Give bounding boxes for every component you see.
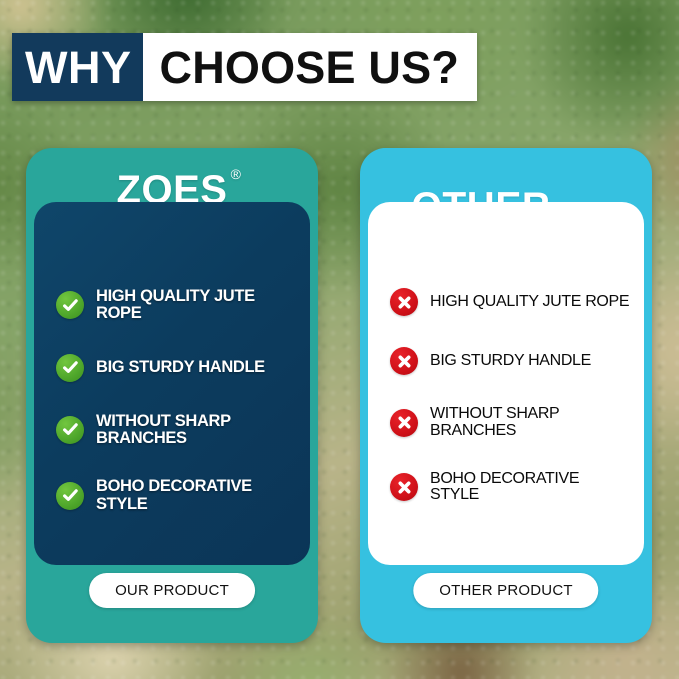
feature-label: HIGH QUALITY JUTE ROPE bbox=[430, 294, 629, 311]
list-item: WITHOUT SHARP BRANCHES bbox=[390, 406, 630, 440]
other-features-panel: HIGH QUALITY JUTE ROPE BIG STURDY HANDLE bbox=[368, 202, 644, 565]
comparison-infographic: WHY CHOOSE US? ZOES ® HOMEWARE HIGH QUAL… bbox=[0, 0, 679, 679]
registered-trademark-icon: ® bbox=[231, 167, 242, 181]
list-item: BIG STURDY HANDLE bbox=[56, 354, 296, 382]
list-item: BOHO DECORATIVE STYLE bbox=[390, 471, 630, 505]
list-item: BIG STURDY HANDLE bbox=[390, 347, 630, 375]
our-product-button[interactable]: OUR PRODUCT bbox=[89, 573, 255, 608]
cross-icon bbox=[390, 288, 418, 316]
cross-icon bbox=[390, 473, 418, 501]
other-product-card: OTHER HIGH QUALITY JUTE ROPE bbox=[360, 148, 652, 643]
cross-icon bbox=[390, 347, 418, 375]
list-item: BOHO DECORATIVE STYLE bbox=[56, 478, 296, 513]
check-icon bbox=[56, 482, 84, 510]
other-product-button[interactable]: OTHER PRODUCT bbox=[413, 573, 598, 608]
list-item: WITHOUT SHARP BRANCHES bbox=[56, 413, 296, 448]
feature-label: BOHO DECORATIVE STYLE bbox=[430, 471, 630, 505]
our-feature-list: HIGH QUALITY JUTE ROPE BIG STURDY HANDLE bbox=[56, 288, 296, 513]
check-icon bbox=[56, 291, 84, 319]
feature-label: WITHOUT SHARP BRANCHES bbox=[96, 413, 296, 448]
header-title: CHOOSE US? bbox=[143, 33, 478, 101]
other-feature-list: HIGH QUALITY JUTE ROPE BIG STURDY HANDLE bbox=[390, 288, 630, 504]
feature-label: HIGH QUALITY JUTE ROPE bbox=[96, 288, 296, 323]
header-highlight-word: WHY bbox=[12, 33, 143, 101]
our-product-card: ZOES ® HOMEWARE HIGH QUALITY JUTE ROPE bbox=[26, 148, 318, 643]
header-banner: WHY CHOOSE US? bbox=[12, 33, 477, 101]
list-item: HIGH QUALITY JUTE ROPE bbox=[56, 288, 296, 323]
feature-label: BOHO DECORATIVE STYLE bbox=[96, 478, 296, 513]
feature-label: BIG STURDY HANDLE bbox=[96, 359, 265, 376]
our-features-panel: HIGH QUALITY JUTE ROPE BIG STURDY HANDLE bbox=[34, 202, 310, 565]
feature-label: WITHOUT SHARP BRANCHES bbox=[430, 406, 630, 440]
list-item: HIGH QUALITY JUTE ROPE bbox=[390, 288, 630, 316]
check-icon bbox=[56, 416, 84, 444]
feature-label: BIG STURDY HANDLE bbox=[430, 353, 591, 370]
check-icon bbox=[56, 354, 84, 382]
cross-icon bbox=[390, 409, 418, 437]
